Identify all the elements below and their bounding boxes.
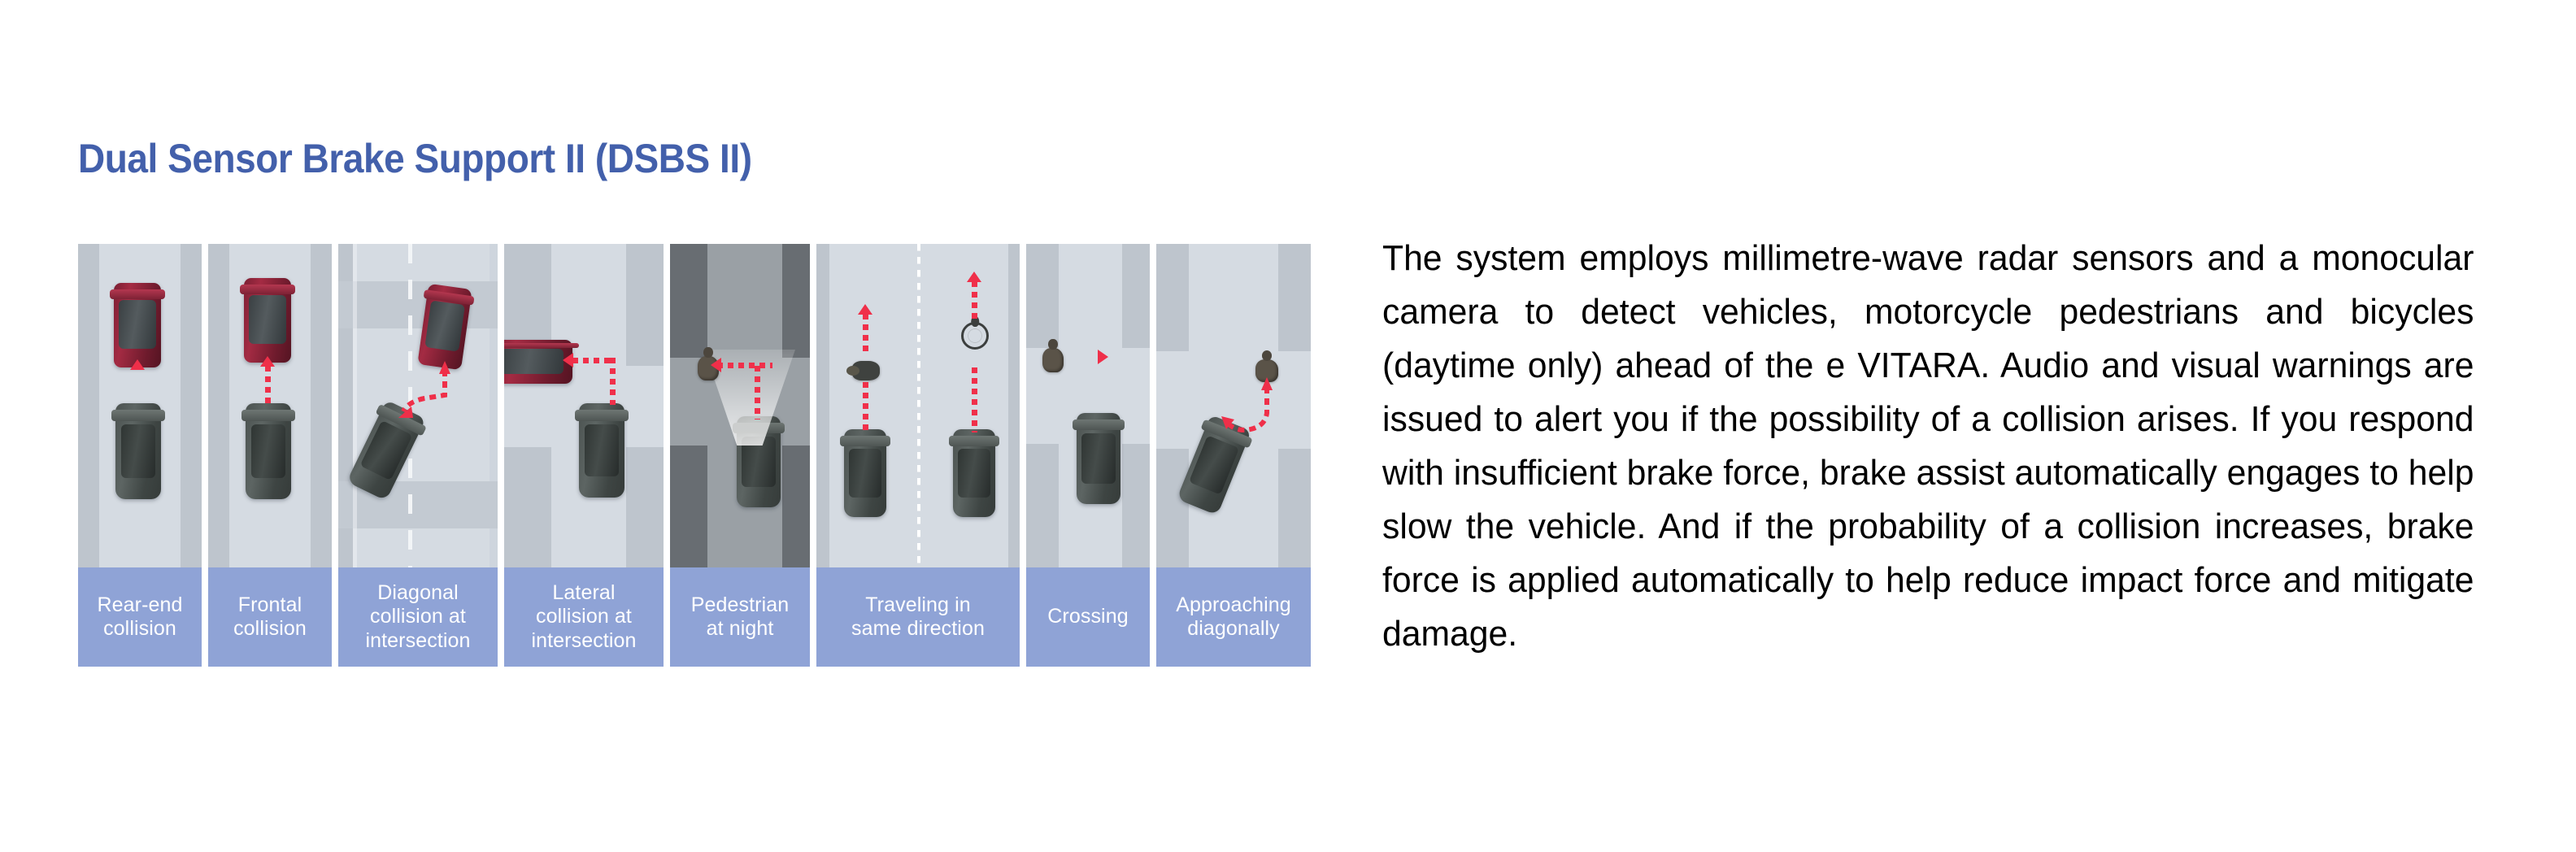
road-shoulder-left [816, 244, 829, 567]
caption-line: intersection [531, 629, 636, 654]
scene-lateral-collision [504, 244, 664, 567]
alert-arrow-shaft-horizontal [717, 363, 772, 368]
panel-caption: Crossing [1026, 567, 1150, 667]
alert-arrow-curve [338, 244, 498, 567]
alert-arrow-shaft-upper [863, 314, 868, 356]
alert-arrow-head-icon [967, 272, 981, 282]
panel-caption: Diagonal collision at intersection [338, 567, 498, 667]
ego-vehicle [246, 403, 291, 499]
scene-crossing [1026, 244, 1150, 567]
panel-rear-end-collision: Rear-end collision [78, 244, 202, 667]
corner-block-bottom-right [1122, 444, 1150, 567]
panel-diagonal-collision: Diagonal collision at intersection [338, 244, 498, 667]
alert-arrow-curve [1156, 244, 1311, 567]
scene-diagonal-collision [338, 244, 498, 567]
alert-arrow-head-icon [858, 304, 872, 315]
panel-traveling-same-direction: Traveling in same direction [816, 244, 1020, 667]
scene-pedestrian-at-night [670, 244, 810, 567]
caption-line: Crossing [1047, 605, 1128, 629]
scenario-panel-strip: Rear-end collision Frontal collision [78, 244, 1353, 667]
panel-frontal-collision: Frontal collision [208, 244, 332, 667]
caption-line: Approaching [1176, 593, 1290, 618]
corner-block-top-right [1122, 244, 1150, 348]
scene-frontal-collision [208, 244, 332, 567]
alert-arrow-head-icon [711, 358, 721, 372]
caption-line: Rear-end [97, 593, 182, 618]
caption-line: Pedestrian [691, 593, 790, 618]
alert-arrow-shaft-vertical [755, 366, 760, 419]
corner-block-bottom-left [504, 447, 551, 567]
alert-arrow-head-icon [260, 356, 275, 367]
road-shoulder-left [78, 244, 99, 567]
scene-rear-end-collision [78, 244, 202, 567]
caption-line: Diagonal [365, 581, 470, 606]
alert-arrow-head-icon [563, 353, 573, 367]
alert-arrow-head-icon [1098, 350, 1108, 364]
description-paragraph: The system employs millimetre-wave radar… [1382, 232, 2474, 661]
caption-line: Frontal [233, 593, 307, 618]
motorcycle-figure [852, 361, 880, 380]
ego-vehicle [579, 403, 624, 498]
alert-arrow-shaft [265, 366, 271, 408]
ego-vehicle [953, 429, 995, 517]
alert-arrow-shaft-vertical [610, 358, 616, 405]
figure-page: Dual Sensor Brake Support II (DSBS II) R… [0, 0, 2576, 852]
panel-caption: Traveling in same direction [816, 567, 1020, 667]
caption-line: collision at [531, 605, 636, 629]
bicycle-figure [961, 322, 989, 350]
caption-line: Traveling in [851, 593, 985, 618]
corner-block-bottom-left [1026, 444, 1059, 567]
alert-arrow-shaft-horizontal [572, 358, 613, 363]
alert-arrow-head-icon [130, 359, 145, 370]
target-vehicle-oncoming-car [244, 278, 291, 363]
corner-block-top-right [626, 244, 664, 366]
sub-scene-divider [917, 244, 920, 567]
page-title: Dual Sensor Brake Support II (DSBS II) [78, 135, 752, 182]
corner-block-bottom-right [782, 446, 810, 567]
alert-arrow-shaft-upper [972, 281, 977, 319]
road-shoulder-left [208, 244, 229, 567]
caption-line: collision [97, 617, 182, 641]
target-vehicle-lead-car [114, 283, 161, 367]
caption-line: at night [691, 617, 790, 641]
caption-line: collision [233, 617, 307, 641]
ego-vehicle [844, 429, 886, 517]
panel-caption: Lateral collision at intersection [504, 567, 664, 667]
panel-approaching-diagonally: Approaching diagonally [1156, 244, 1311, 667]
pedestrian-figure [1042, 348, 1064, 372]
panel-crossing: Crossing [1026, 244, 1150, 667]
alert-arrow-shaft [972, 367, 977, 433]
corner-block-top-left [1026, 244, 1059, 348]
caption-line: diagonally [1176, 617, 1290, 641]
scene-traveling-same-direction [816, 244, 1020, 567]
panel-caption: Frontal collision [208, 567, 332, 667]
road-shoulder-right [1008, 244, 1020, 567]
panel-caption: Rear-end collision [78, 567, 202, 667]
caption-line: collision at [365, 605, 470, 629]
panel-pedestrian-at-night: Pedestrian at night [670, 244, 810, 667]
caption-line: same direction [851, 617, 985, 641]
panel-caption: Approaching diagonally [1156, 567, 1311, 667]
caption-line: Lateral [531, 581, 636, 606]
corner-block-top-left [670, 244, 707, 358]
corner-block-bottom-right [626, 447, 664, 567]
road-shoulder-right [311, 244, 332, 567]
scene-approaching-diagonally [1156, 244, 1311, 567]
ego-vehicle [115, 403, 161, 499]
caption-line: intersection [365, 629, 470, 654]
alert-arrow-shaft [863, 382, 868, 433]
panel-caption: Pedestrian at night [670, 567, 810, 667]
corner-block-bottom-left [670, 446, 707, 567]
ego-vehicle [1077, 413, 1120, 504]
panel-lateral-collision: Lateral collision at intersection [504, 244, 664, 667]
corner-block-top-right [782, 244, 810, 358]
road-shoulder-right [181, 244, 202, 567]
